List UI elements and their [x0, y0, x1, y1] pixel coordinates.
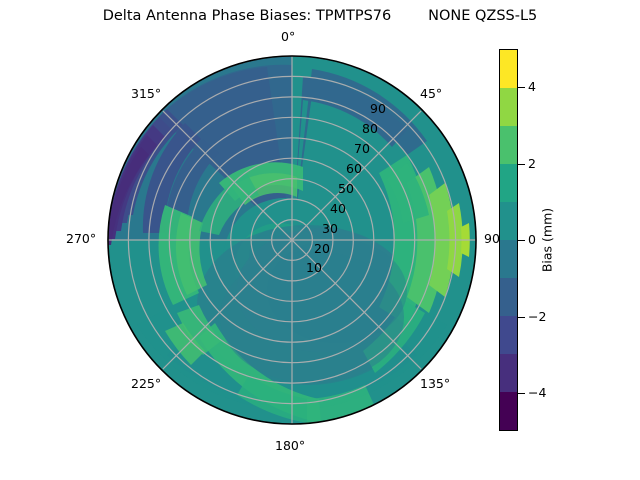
colorbar-band: [500, 202, 517, 240]
angular-tick-270: 270°: [66, 233, 96, 246]
angular-tick-45: 45°: [420, 88, 442, 101]
colorbar-ticklabel-4: 4: [528, 81, 536, 94]
radial-tick-70: 70: [354, 143, 370, 156]
radial-tick-50: 50: [338, 183, 354, 196]
colorbar-band: [500, 278, 517, 316]
colorbar-band: [500, 354, 517, 392]
colorbar[interactable]: [499, 49, 518, 431]
colorbar-band: [500, 240, 517, 278]
radial-tick-10: 10: [306, 262, 322, 275]
radial-tick-60: 60: [346, 163, 362, 176]
colorbar-tick-mark: [518, 393, 525, 394]
radial-tick-20: 20: [314, 243, 330, 256]
angular-tick-135: 135°: [420, 378, 450, 391]
radial-tick-40: 40: [330, 203, 346, 216]
colorbar-axis-label: Bias (mm): [540, 208, 555, 272]
figure-title: Delta Antenna Phase Biases: TPMTPS76 NON…: [0, 8, 640, 24]
radial-tick-30: 30: [322, 223, 338, 236]
colorbar-tick-mark: [518, 164, 525, 165]
colorbar-ticklabel-neg2: −2: [528, 311, 546, 324]
figure-canvas: Delta Antenna Phase Biases: TPMTPS76 NON…: [0, 0, 640, 480]
polar-contour-plot: [107, 55, 477, 425]
polar-grid: [108, 56, 476, 424]
colorbar-tick-mark: [518, 240, 525, 241]
angular-tick-225: 225°: [131, 378, 161, 391]
colorbar-band: [500, 50, 517, 88]
colorbar-tick-mark: [518, 317, 525, 318]
colorbar-tick-mark: [518, 87, 525, 88]
angular-tick-315: 315°: [131, 88, 161, 101]
colorbar-ticklabel-2: 2: [528, 158, 536, 171]
colorbar-band: [500, 126, 517, 164]
colorbar-ticklabel-0: 0: [528, 234, 536, 247]
colorbar-band: [500, 316, 517, 354]
colorbar-ticklabel-neg4: −4: [528, 387, 546, 400]
radial-tick-90: 90: [370, 103, 386, 116]
colorbar-band: [500, 392, 517, 430]
polar-axes: 10 20 30 40 50 60 70 80 90: [107, 55, 477, 425]
angular-tick-0: 0°: [281, 31, 295, 44]
radial-tick-80: 80: [362, 123, 378, 136]
colorbar-band: [500, 164, 517, 202]
colorbar-band: [500, 88, 517, 126]
angular-tick-180: 180°: [275, 440, 305, 453]
